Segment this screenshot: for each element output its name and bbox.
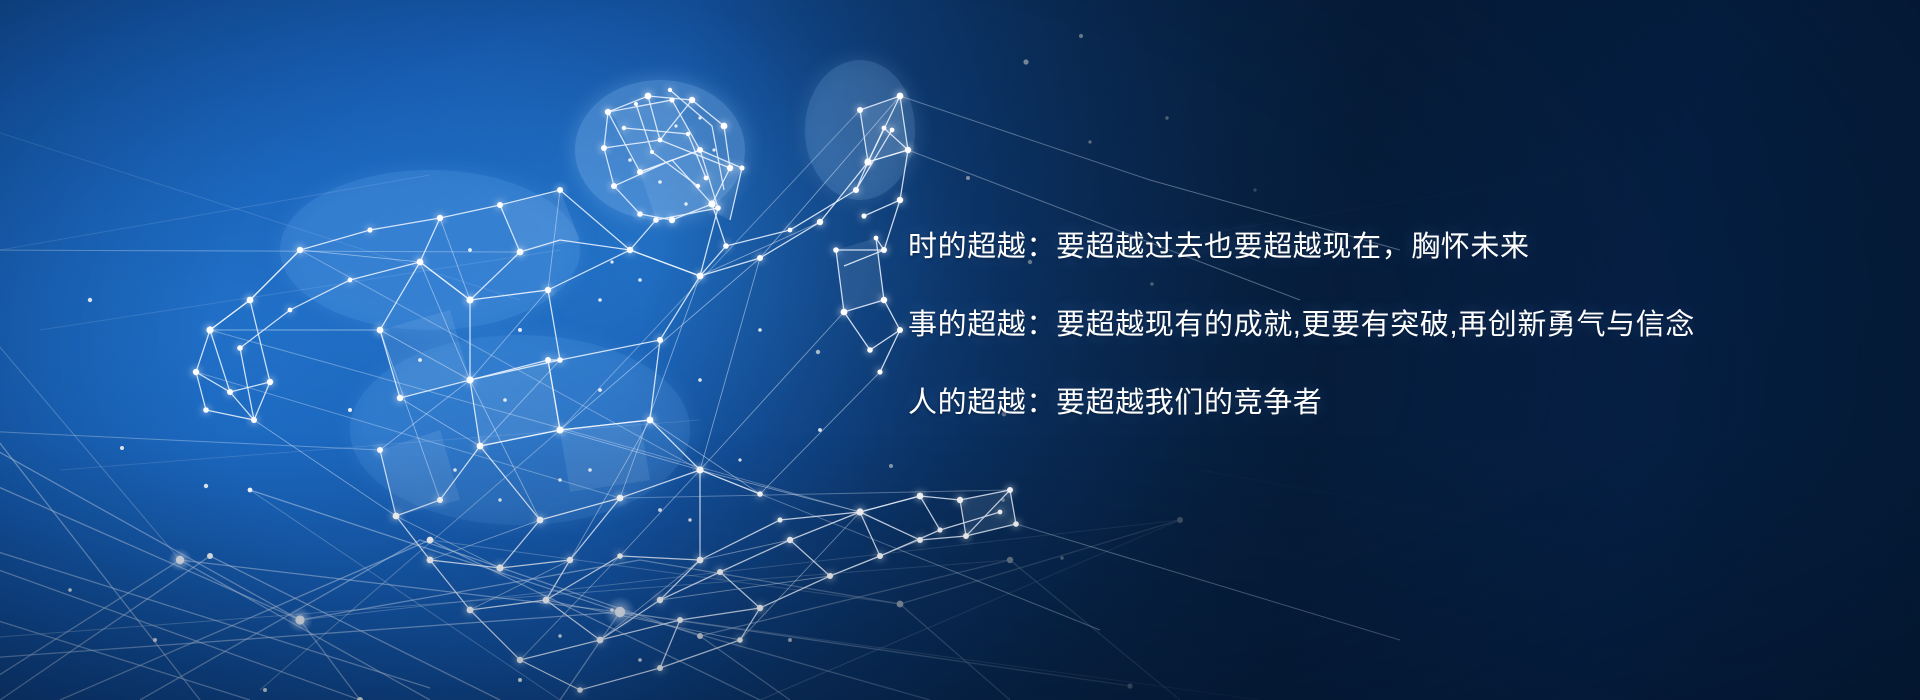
slogan-text-block: 时的超越：要超越过去也要超越现在，胸怀未来 事的超越：要超越现有的成就,更要有突… — [908, 233, 1808, 418]
slogan-line-people: 人的超越：要超越我们的竞争者 — [908, 389, 1808, 418]
slogan-line-time: 时的超越：要超越过去也要超越现在，胸怀未来 — [908, 233, 1808, 262]
banner-root: 时的超越：要超越过去也要超越现在，胸怀未来 事的超越：要超越现有的成就,更要有突… — [0, 0, 1920, 700]
slogan-line-work: 事的超越：要超越现有的成就,更要有突破,再创新勇气与信念 — [908, 311, 1808, 340]
